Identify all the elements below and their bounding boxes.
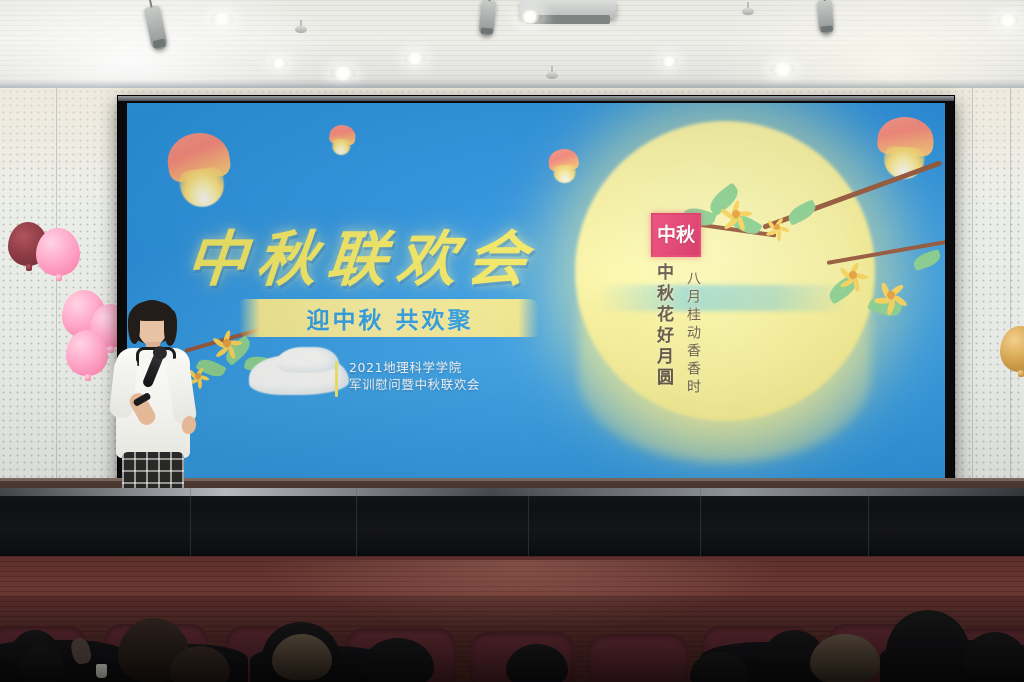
- stage-panel-seam: [356, 488, 357, 556]
- osmanthus-blossom: [839, 261, 867, 289]
- presenter-hair-side-right: [164, 310, 177, 346]
- smoke-detector-icon: [546, 72, 558, 79]
- ceiling: [0, 0, 1024, 96]
- sky-lantern-mid-center: [548, 148, 581, 184]
- sky-lantern-small-upper: [328, 124, 357, 157]
- stage-panel-seam: [190, 488, 191, 556]
- osmanthus-blossom: [213, 329, 241, 357]
- downlight: [996, 14, 1020, 28]
- screen-bezel-highlight: [118, 96, 954, 101]
- spotlight-icon: [817, 0, 834, 34]
- led-screen-content: 中秋联欢会 迎中秋 共欢聚 2021地理科学学院 军训慰问暨中秋联欢会 中秋 中…: [127, 103, 945, 479]
- wall-panel-seam: [972, 88, 973, 488]
- cloud-decoration: [277, 347, 339, 373]
- audience-area: [0, 596, 1024, 682]
- sky-lantern-top-right: [875, 115, 935, 181]
- osmanthus-blossom: [765, 215, 789, 239]
- smoke-detector-icon: [742, 8, 754, 15]
- seal-text: 中秋: [657, 226, 695, 245]
- downlight: [270, 58, 288, 69]
- screen-title: 中秋联欢会: [183, 211, 661, 298]
- subtitle-line-2: 军训慰问暨中秋联欢会: [349, 376, 480, 393]
- downlight: [210, 12, 234, 26]
- screen-banner-text: 迎中秋 共欢聚: [245, 303, 535, 333]
- mid-autumn-seal: 中秋: [651, 213, 701, 257]
- downlight: [660, 56, 678, 67]
- stage-panel-seam: [868, 488, 869, 556]
- balloon-pink-upper: [36, 228, 80, 276]
- downlight: [518, 10, 542, 24]
- downlight: [404, 52, 426, 65]
- osmanthus-blossom: [721, 199, 751, 229]
- stage-front-sheen: [0, 488, 1024, 496]
- subtitle-line-1: 2021地理科学学院: [349, 359, 480, 376]
- wall-panel-seam: [56, 88, 57, 488]
- downlight: [330, 66, 356, 81]
- auditorium-photo: 中秋联欢会 迎中秋 共欢聚 2021地理科学学院 军训慰问暨中秋联欢会 中秋 中…: [0, 0, 1024, 682]
- wall-panel-seam: [1010, 88, 1011, 488]
- sky-lantern-large-left: [164, 129, 236, 211]
- screen-subtitle: 2021地理科学学院 军训慰问暨中秋联欢会: [349, 359, 480, 393]
- moon-water-reflection: [579, 293, 871, 463]
- subtitle-accent-bar: [335, 361, 338, 397]
- calligraphy-column-2: 八月桂动香香时: [683, 271, 703, 397]
- presenter-hair-side-left: [128, 310, 140, 344]
- led-screen-frame: 中秋联欢会 迎中秋 共欢聚 2021地理科学学院 军训慰问暨中秋联欢会 中秋 中…: [118, 96, 954, 488]
- smoke-detector-icon: [295, 26, 307, 33]
- osmanthus-blossom: [875, 279, 907, 311]
- audience-head: [272, 634, 332, 680]
- calligraphy-column-1: 中秋花好月圆: [651, 263, 676, 389]
- downlight: [770, 62, 796, 77]
- stage-front-panel: [0, 488, 1024, 556]
- seat-back: [588, 634, 688, 682]
- leaf: [912, 249, 943, 271]
- paper-cup: [96, 664, 107, 678]
- stage-panel-seam: [700, 488, 701, 556]
- audience-head: [886, 610, 970, 682]
- stage-panel-seam: [528, 488, 529, 556]
